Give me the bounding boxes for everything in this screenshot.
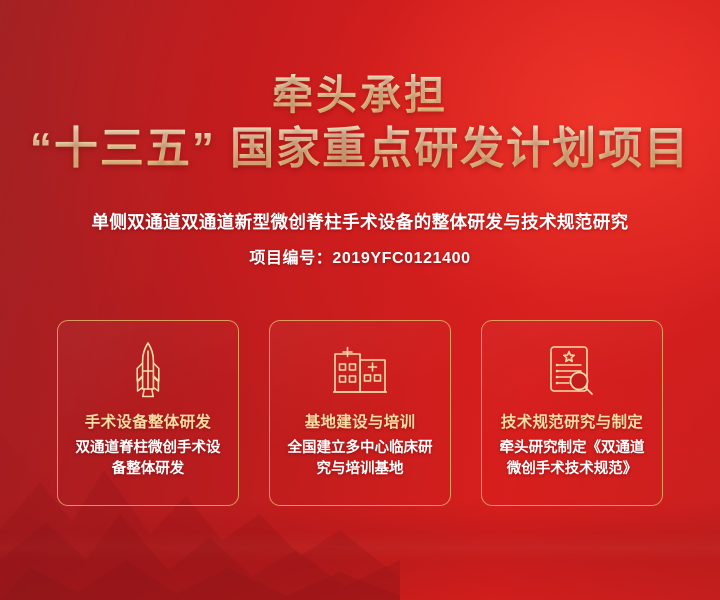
lower-band: [0, 500, 720, 600]
feature-card-description: 全国建立多中心临床研究与培训基地: [282, 438, 438, 479]
feature-card-tech-standard[interactable]: 技术规范研究与制定 牵头研究制定《双通道微创手术技术规范》: [481, 320, 663, 506]
hospital-building-icon: [333, 341, 387, 399]
headline-block: 牵头承担 “十三五” 国家重点研发计划项目: [0, 74, 720, 173]
feature-card-title: 手术设备整体研发: [85, 410, 211, 432]
feature-card-title: 基地建设与培训: [305, 410, 416, 432]
lower-soft-band: [0, 532, 720, 562]
feature-card-title: 技术规范研究与制定: [501, 410, 643, 432]
feature-card-list: 手术设备整体研发 双通道脊柱微创手术设备整体研发: [57, 320, 663, 506]
rocket-icon: [131, 341, 165, 399]
feature-card-description: 双通道脊柱微创手术设备整体研发: [70, 438, 226, 479]
page-subtitle: “十三五” 国家重点研发计划项目: [0, 125, 720, 173]
document-magnifier-icon: [547, 341, 597, 399]
corner-glow: [340, 0, 720, 360]
feature-card-base-training[interactable]: 基地建设与培训 全国建立多中心临床研究与培训基地: [269, 320, 451, 506]
feature-card-equipment-rd[interactable]: 手术设备整体研发 双通道脊柱微创手术设备整体研发: [57, 320, 239, 506]
project-number: 项目编号：2019YFC0121400: [0, 244, 720, 268]
page-title: 牵头承担: [0, 74, 720, 117]
feature-card-description: 牵头研究制定《双通道微创手术技术规范》: [494, 438, 650, 479]
promo-poster: 牵头承担 “十三五” 国家重点研发计划项目 单侧双通道双通道新型微创脊柱手术设备…: [0, 0, 720, 600]
project-description: 单侧双通道双通道新型微创脊柱手术设备的整体研发与技术规范研究: [0, 209, 720, 234]
